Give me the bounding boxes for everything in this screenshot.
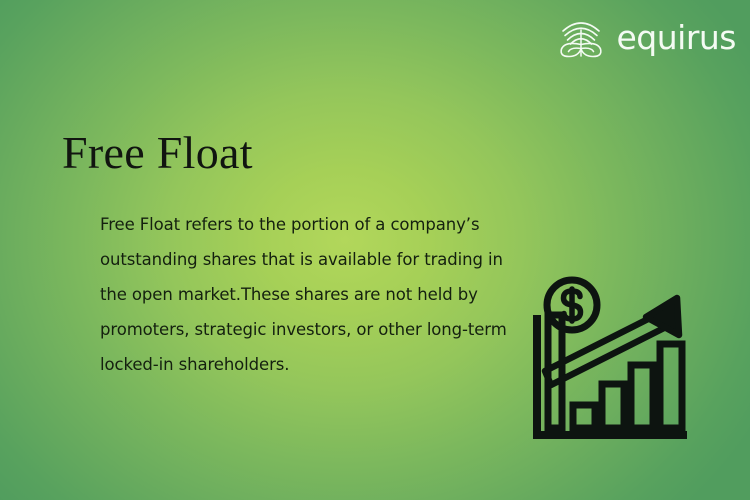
page-title: Free Float — [62, 129, 253, 177]
dollar-coin-icon — [547, 280, 597, 330]
equirus-tree-logo-icon — [555, 16, 607, 60]
brand-wordmark: equirus — [616, 21, 736, 56]
chart-bars — [573, 344, 682, 428]
growth-bar-chart-icon — [527, 272, 693, 444]
bar-chart-axis — [537, 315, 687, 435]
brand-logo: equirus — [555, 16, 736, 60]
slide-canvas: equirus Free Float Free Float refers to … — [0, 0, 750, 500]
definition-text: Free Float refers to the portion of a co… — [100, 207, 525, 382]
